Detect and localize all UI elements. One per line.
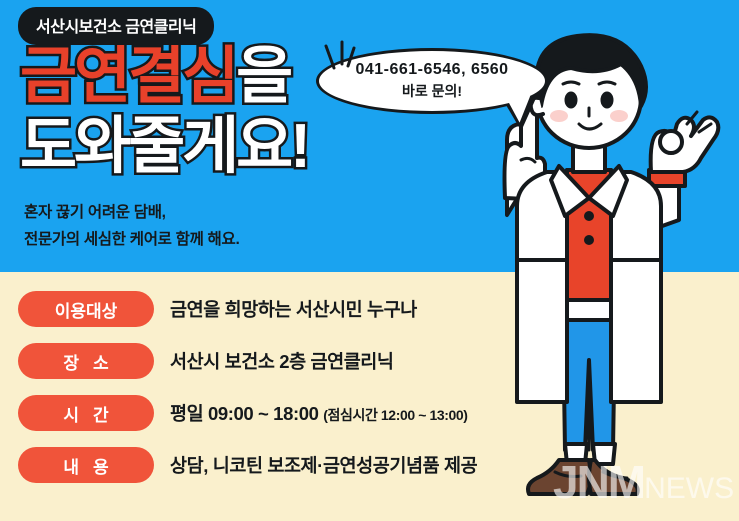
- clinic-name-badge: 서산시보건소 금연클리닉: [18, 7, 214, 45]
- inquiry-cta-text: 바로 문의!: [402, 81, 462, 101]
- info-value-text: 평일 09:00 ~ 18:00: [170, 403, 319, 424]
- info-row: 장소 서산시 보건소 2층 금연클리닉: [0, 335, 739, 387]
- info-value-text: 금연을 희망하는 서산시민 누구나: [170, 299, 417, 320]
- info-rows: 이용대상 금연을 희망하는 서산시민 누구나 장소 서산시 보건소 2층 금연클…: [0, 283, 739, 491]
- info-row: 이용대상 금연을 희망하는 서산시민 누구나: [0, 283, 739, 335]
- info-row: 시간 평일 09:00 ~ 18:00 (점심시간 12:00 ~ 13:00): [0, 387, 739, 439]
- info-value: 상담, 니코틴 보조제·금연성공기념품 제공: [170, 452, 477, 478]
- subtitle-block: 혼자 끊기 어려운 담배, 전문가의 세심한 케어로 함께 해요.: [24, 199, 239, 253]
- info-row: 내용 상담, 니코틴 보조제·금연성공기념품 제공: [0, 439, 739, 491]
- headline-second-line-text: 도와줄게요!: [20, 116, 308, 178]
- headline-line-1: 금연결심을: [20, 46, 308, 108]
- headline-white-particle: 을: [236, 46, 290, 108]
- speech-bubble-tail-fill: [508, 96, 535, 124]
- headline-block: 금연결심을 도와줄게요!: [20, 46, 308, 182]
- poster-root: 서산시보건소 금연클리닉 금연결심을 도와줄게요! 041-661-6546, …: [0, 0, 739, 521]
- info-label-pill: 장소: [18, 343, 154, 379]
- info-value: 금연을 희망하는 서산시민 누구나: [170, 296, 417, 322]
- info-value: 평일 09:00 ~ 18:00 (점심시간 12:00 ~ 13:00): [170, 400, 468, 426]
- subtitle-line-1: 혼자 끊기 어려운 담배,: [24, 199, 239, 226]
- phone-number-text: 041-661-6546, 6560: [355, 61, 508, 79]
- subtitle-line-2: 전문가의 세심한 케어로 함께 해요.: [24, 226, 239, 253]
- info-value: 서산시 보건소 2층 금연클리닉: [170, 348, 394, 374]
- info-label-pill: 내용: [18, 447, 154, 483]
- spark-lines-icon: [318, 40, 358, 74]
- headline-red-text: 금연결심: [20, 46, 236, 108]
- info-value-text: 상담, 니코틴 보조제·금연성공기념품 제공: [170, 455, 477, 476]
- info-value-note: (점심시간 12:00 ~ 13:00): [323, 407, 467, 423]
- info-label-pill: 시간: [18, 395, 154, 431]
- info-value-text: 서산시 보건소 2층 금연클리닉: [170, 351, 394, 372]
- headline-line-2: 도와줄게요!: [20, 116, 308, 178]
- info-label-pill: 이용대상: [18, 291, 154, 327]
